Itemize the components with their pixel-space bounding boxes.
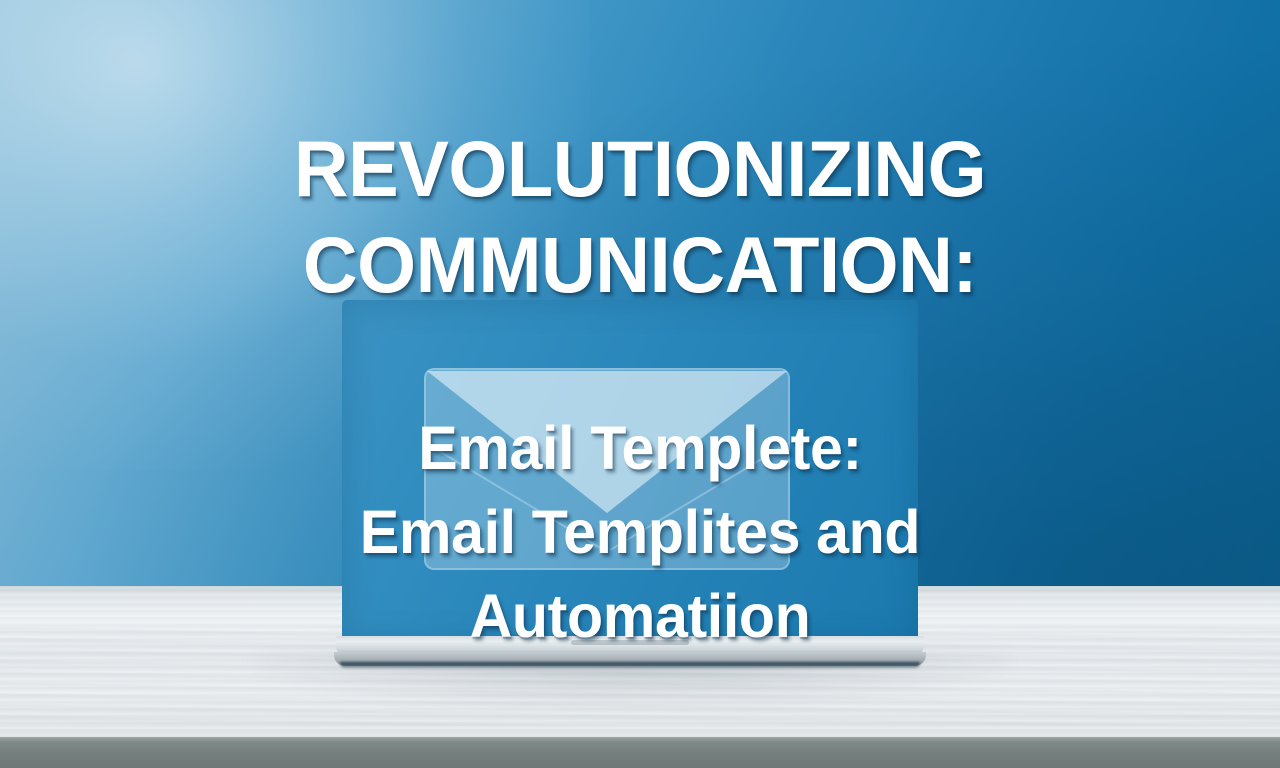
subtitle-line-3: Automatiion	[19, 574, 1261, 658]
headline-line-1: REVOLUTIONIZING	[26, 121, 1255, 217]
subtitle-line-2: Email Templites and	[19, 490, 1261, 574]
text-layer: REVOLUTIONIZING COMMUNICATION: Email Tem…	[0, 0, 1280, 768]
subtitle-line-1: Email Templete:	[19, 406, 1261, 490]
headline-line-2: COMMUNICATION:	[26, 217, 1255, 313]
page-subtitle: Email Templete: Email Templites and Auto…	[19, 406, 1261, 658]
slide-canvas: REVOLUTIONIZING COMMUNICATION: Email Tem…	[0, 0, 1280, 768]
page-title: REVOLUTIONIZING COMMUNICATION:	[26, 121, 1255, 313]
